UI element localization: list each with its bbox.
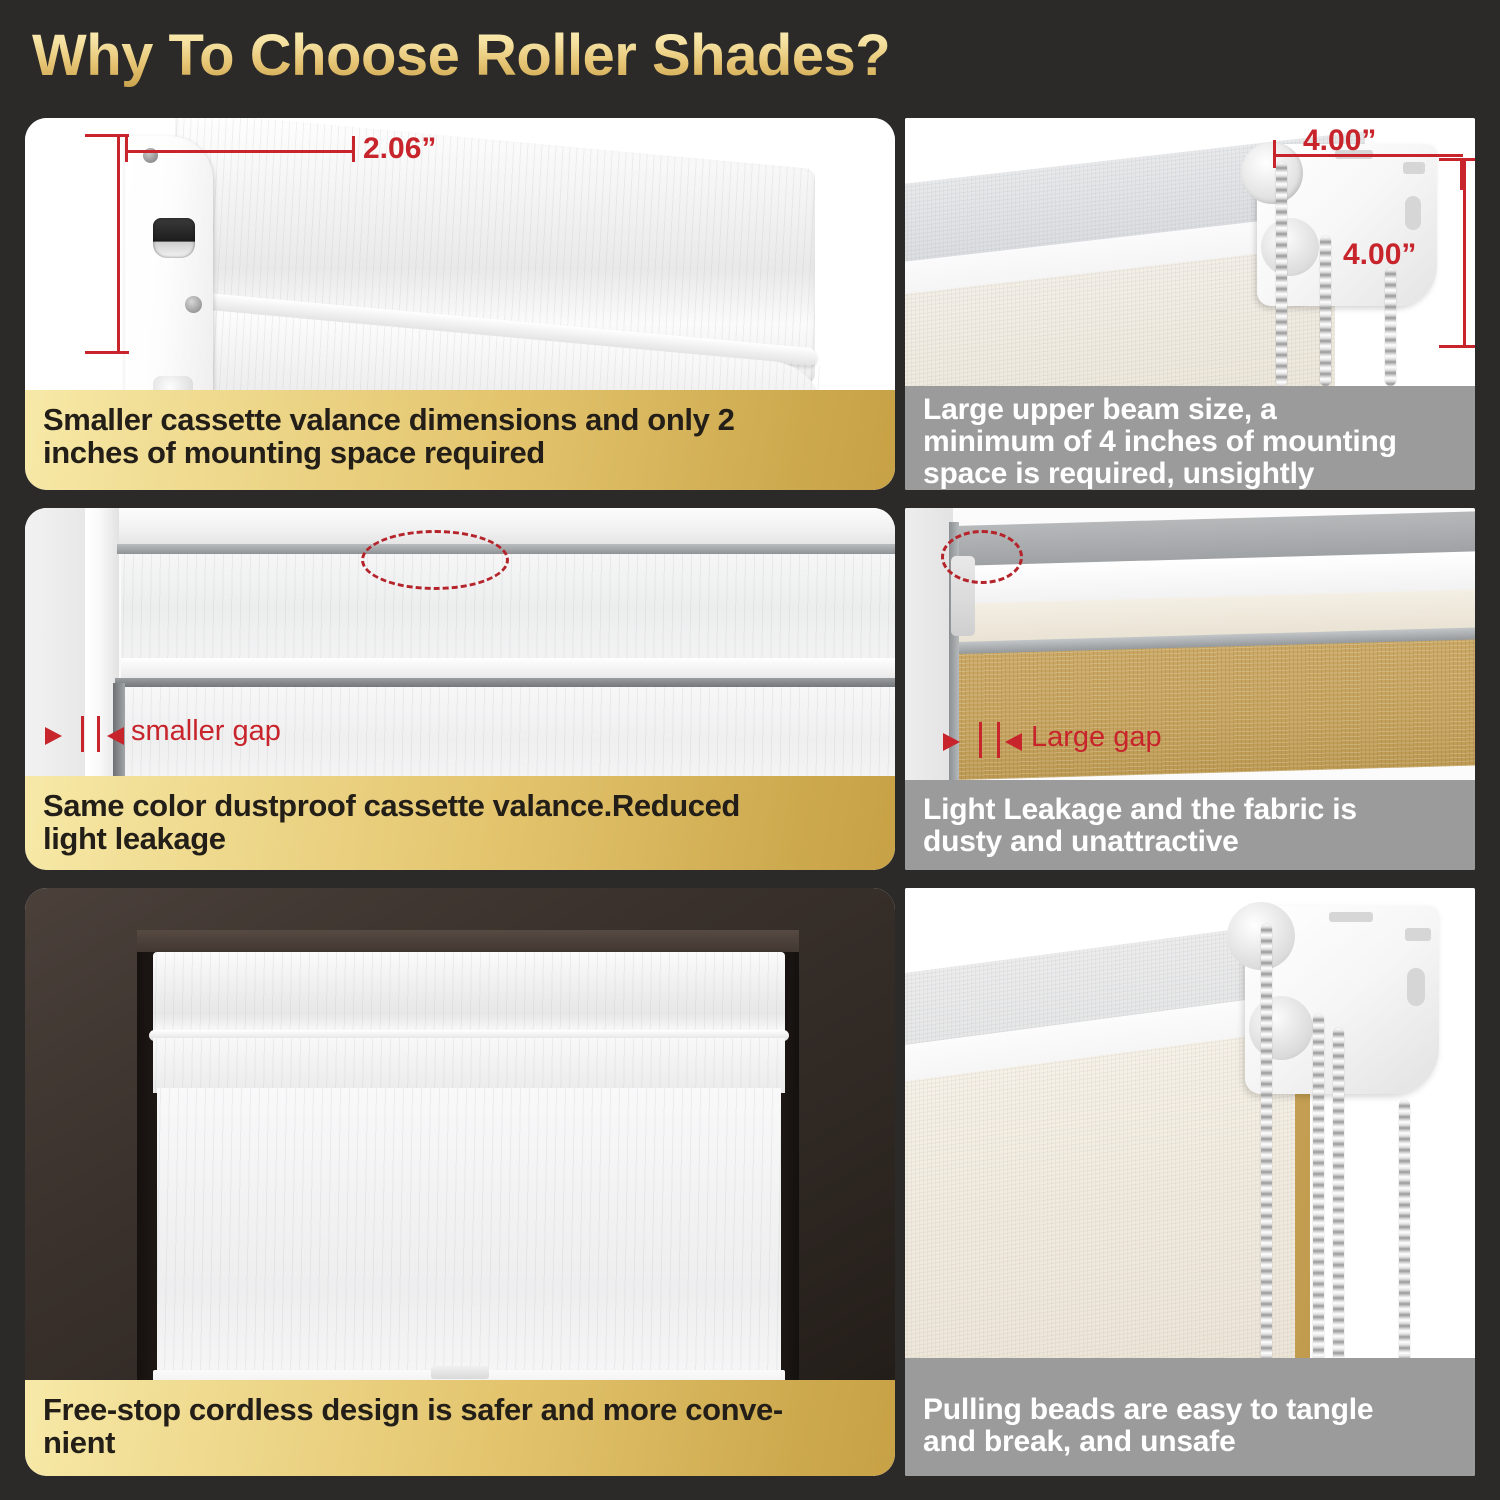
gap-label: smaller gap [131,715,281,748]
caption-line: light leakage [43,823,740,856]
caption-line: Pulling beads are easy to tangle [923,1394,1373,1426]
gap-arrow-left [45,727,62,745]
gap-arrow-right [1005,733,1022,751]
bead-chain [1385,268,1396,386]
caption-line: inches of mounting space required [43,437,734,470]
caption-line: Large upper beam size, a [923,394,1397,426]
dimension-label-height: 4.00” [1343,238,1416,272]
bead-chain [1320,236,1331,386]
cassette-valance-photo: 2.06” 5.49” [25,118,895,398]
caption-good-cordless: Free-stop cordless design is safer and m… [25,1380,895,1476]
panel-bad-beam: 4.00” 4.00” Large upper beam size, a min… [905,118,1475,490]
caption-line: Light Leakage and the fabric is [923,794,1357,826]
caption-bad-beads: Pulling beads are easy to tangle and bre… [905,1380,1475,1476]
panel-good-cassette: 2.06” 5.49” Smaller cassette valance dim… [25,118,895,490]
caption-bad-beam: Large upper beam size, a minimum of 4 in… [905,386,1475,490]
caption-line: minimum of 4 inches of mounting [923,426,1397,458]
cassette-valance [153,952,785,1034]
large-gap-photo: Large gap [905,508,1475,780]
smaller-gap-photo: smaller gap [25,508,895,776]
pull-tab[interactable] [431,1366,489,1379]
roller-shade-fabric [157,1088,781,1378]
panel-good-cordless: Free-stop cordless design is safer and m… [25,888,895,1476]
gap-label: Large gap [1031,721,1162,754]
caption-line: Smaller cassette valance dimensions and … [43,404,734,437]
panel-good-gap: smaller gap Same color dustproof cassett… [25,508,895,870]
cordless-window-photo [25,888,895,1380]
caption-line: Free-stop cordless design is safer and m… [43,1394,783,1427]
caption-line: Same color dustproof cassette valance.Re… [43,790,740,823]
caption-line: and break, and unsafe [923,1426,1373,1458]
bead-chain[interactable] [1399,1100,1410,1376]
dimension-label-width: 2.06” [363,132,436,166]
caption-line: dusty and unattractive [923,826,1357,858]
gap-arrow-left [943,733,960,751]
highlight-ellipse [361,530,509,590]
bead-chain[interactable] [1333,1028,1344,1376]
caption-line: nient [43,1427,783,1460]
panel-bad-gap: Large gap Light Leakage and the fabric i… [905,508,1475,870]
caption-good-gap: Same color dustproof cassette valance.Re… [25,776,895,870]
page-title: Why To Choose Roller Shades? [32,22,890,89]
bead-chain[interactable] [1261,924,1272,1376]
large-beam-photo: 4.00” 4.00” [905,118,1475,386]
caption-line: space is required, unsightly [923,458,1397,490]
caption-bad-gap: Light Leakage and the fabric is dusty an… [905,780,1475,870]
dimension-label-width: 4.00” [1303,124,1376,158]
bead-chain[interactable] [1313,1014,1324,1376]
gap-arrow-right [107,727,124,745]
panel-bad-beads: Pulling beads are easy to tangle and bre… [905,888,1475,1476]
bead-chain-photo [905,888,1475,1380]
bead-chain [1276,162,1287,386]
caption-good-cassette: Smaller cassette valance dimensions and … [25,390,895,490]
highlight-ellipse [941,530,1023,584]
